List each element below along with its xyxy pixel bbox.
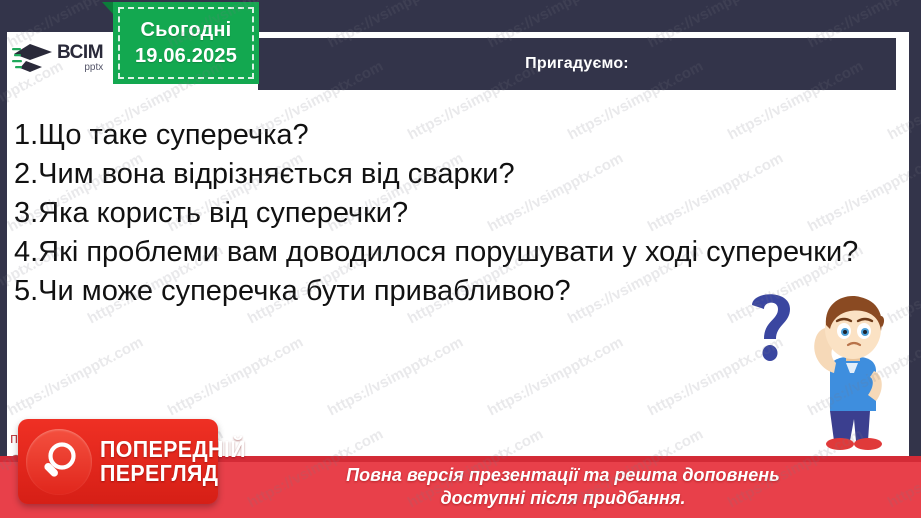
list-item: 1.Що таке суперечка? xyxy=(14,116,909,155)
list-item: 2.Чим вона відрізняється від сварки? xyxy=(14,155,909,194)
date-value: 19.06.2025 xyxy=(135,45,237,68)
purchase-notice-line2: доступні після придбання. xyxy=(268,487,858,510)
logo-title: ВСІМ xyxy=(57,43,103,62)
page-title: Пригадуємо: xyxy=(525,55,629,73)
list-item: 4.Які проблеми вам доводилося порушувати… xyxy=(14,233,909,272)
magnifier-icon xyxy=(26,429,92,495)
date-label: Сьогодні xyxy=(141,19,232,42)
date-badge: Сьогодні 19.06.2025 xyxy=(113,2,259,84)
date-badge-inner: Сьогодні 19.06.2025 xyxy=(118,7,254,79)
presentation-slide: ВСІМ pptx Сьогодні 19.06.2025 Пригадуємо… xyxy=(0,0,921,518)
preview-badge[interactable]: ПОПЕРЕДНІЙ ПЕРЕГЛЯД xyxy=(18,419,218,504)
slide-frame-right xyxy=(909,0,921,518)
slide-header-bar: Пригадуємо: xyxy=(258,38,896,90)
preview-badge-line1: ПОПЕРЕДНІЙ xyxy=(100,438,246,461)
thinking-boy-illustration xyxy=(734,283,909,458)
question-mark-icon xyxy=(752,294,790,361)
slide-frame-left xyxy=(0,0,7,518)
purchase-notice-text: Повна версія презентації та решта доповн… xyxy=(268,464,858,510)
list-item: 3.Яка користь від суперечки? xyxy=(14,194,909,233)
question-list: 1.Що таке суперечка? 2.Чим вона відрізня… xyxy=(14,116,909,311)
purchase-notice-line1: Повна версія презентації та решта доповн… xyxy=(268,464,858,487)
graduation-cap-icon xyxy=(12,41,54,75)
preview-badge-line2: ПЕРЕГЛЯД xyxy=(100,462,246,485)
logo-subtitle: pptx xyxy=(57,63,103,73)
brand-logo: ВСІМ pptx xyxy=(8,33,112,83)
